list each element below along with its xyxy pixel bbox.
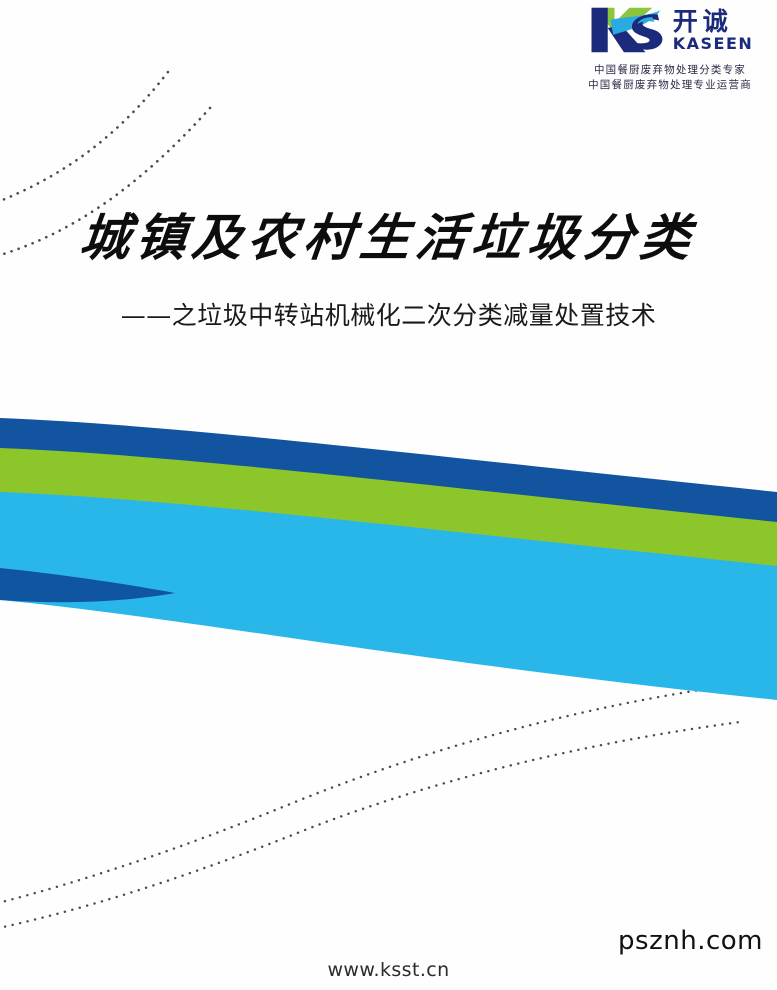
dotted-curve-bottom-outer bbox=[0, 690, 700, 905]
logo-taglines: 中国餐厨废弃物处理分类专家 中国餐厨废弃物处理专业运营商 bbox=[571, 63, 769, 93]
cover-page: 开诚 KASEEN 中国餐厨废弃物处理分类专家 中国餐厨废弃物处理专业运营商 城… bbox=[0, 0, 777, 990]
logo-mark-row: 开诚 KASEEN bbox=[571, 4, 769, 56]
wave-ribbon-graphic bbox=[0, 395, 777, 715]
watermark-text: psznh.com bbox=[618, 926, 763, 956]
brand-logo-block: 开诚 KASEEN 中国餐厨废弃物处理分类专家 中国餐厨废弃物处理专业运营商 bbox=[571, 4, 769, 93]
footer-url[interactable]: www.ksst.cn bbox=[0, 959, 777, 981]
dotted-curve-bottom-inner bbox=[0, 722, 740, 930]
brand-name-en: KASEEN bbox=[673, 36, 754, 52]
logo-wordmark: 开诚 KASEEN bbox=[673, 9, 754, 52]
page-title: 城镇及农村生活垃圾分类 bbox=[0, 198, 777, 270]
logo-tagline-2: 中国餐厨废弃物处理专业运营商 bbox=[571, 78, 769, 93]
ks-monogram-icon bbox=[587, 5, 669, 55]
dotted-curve-top-outer bbox=[0, 72, 168, 205]
brand-name-cn: 开诚 bbox=[673, 9, 754, 34]
page-subtitle: ——之垃圾中转站机械化二次分类减量处置技术 bbox=[0, 296, 777, 332]
logo-tagline-1: 中国餐厨废弃物处理分类专家 bbox=[571, 63, 769, 78]
